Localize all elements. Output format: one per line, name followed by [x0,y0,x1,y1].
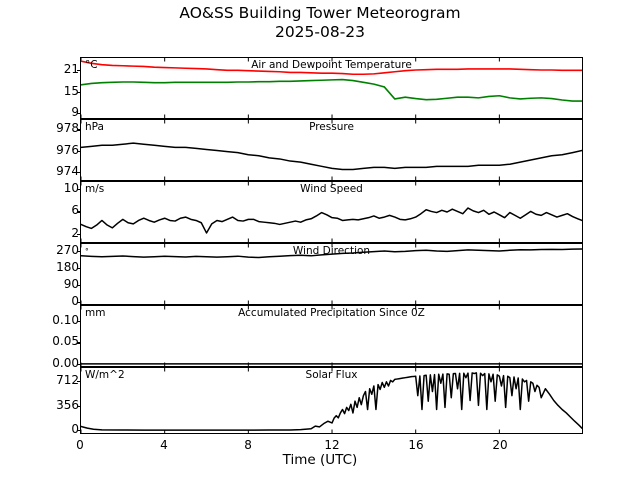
y-tick-mark [77,268,81,269]
x-tick-label: 16 [408,438,423,452]
y-tick-mark [77,381,81,382]
y-tick-label: 0 [5,294,79,308]
y-tick-mark [77,342,81,343]
panel-accumulated-precipitation: Accumulated Precipitation Since 0Zmm0.00… [80,305,583,367]
panel-wind-direction: Wind Direction°090180270 [80,243,583,305]
panel-solar-flux: Solar FluxW/m^20356712 [80,367,583,434]
y-tick-mark [77,251,81,252]
y-tick-label: 976 [5,143,79,157]
y-tick-label: 21 [5,62,79,76]
panel-wind-speed: Wind Speedm/s2610 [80,181,583,243]
figure-title-line1: AO&SS Building Tower Meteorogram [179,4,460,22]
x-tick-label: 20 [492,438,507,452]
y-tick-mark [77,189,81,190]
x-tick-label: 8 [244,438,252,452]
y-tick-label: 356 [5,398,79,412]
y-tick-label: 978 [5,121,79,135]
y-tick-mark [77,364,81,365]
y-tick-label: 2 [5,226,79,240]
y-tick-label: 712 [5,373,79,387]
y-tick-mark [77,321,81,322]
y-tick-mark [77,285,81,286]
y-tick-mark [77,302,81,303]
y-tick-mark [77,129,81,130]
y-tick-label: 0.10 [5,313,79,327]
x-tick-label: 12 [324,438,339,452]
y-tick-label: 90 [5,277,79,291]
y-tick-label: 6 [5,203,79,217]
panel-air-and-dewpoint-temperature: Air and Dewpoint Temperature°C91521 [80,57,583,119]
panel-pressure: PressurehPa974976978 [80,119,583,181]
y-tick-mark [77,113,81,114]
y-tick-mark [77,70,81,71]
y-tick-label: 10 [5,181,79,195]
figure-title: AO&SS Building Tower Meteorogram 2025-08… [0,4,640,42]
y-tick-mark [77,406,81,407]
figure-title-line2: 2025-08-23 [0,23,640,42]
y-tick-label: 15 [5,84,79,98]
x-axis-label: Time (UTC) [0,452,640,468]
y-tick-label: 0.05 [5,334,79,348]
y-tick-label: 0.00 [5,356,79,370]
y-tick-label: 180 [5,260,79,274]
meteorogram-figure: AO&SS Building Tower Meteorogram 2025-08… [0,0,640,480]
y-tick-label: 974 [5,164,79,178]
y-tick-label: 0 [5,422,79,436]
y-tick-label: 270 [5,243,79,257]
y-tick-mark [77,211,81,212]
y-tick-label: 9 [5,105,79,119]
y-tick-mark [77,172,81,173]
y-tick-mark [77,234,81,235]
y-tick-mark [77,151,81,152]
y-tick-mark [77,430,81,431]
y-tick-mark [77,92,81,93]
x-tick-label: 4 [160,438,168,452]
x-tick-label: 0 [76,438,84,452]
